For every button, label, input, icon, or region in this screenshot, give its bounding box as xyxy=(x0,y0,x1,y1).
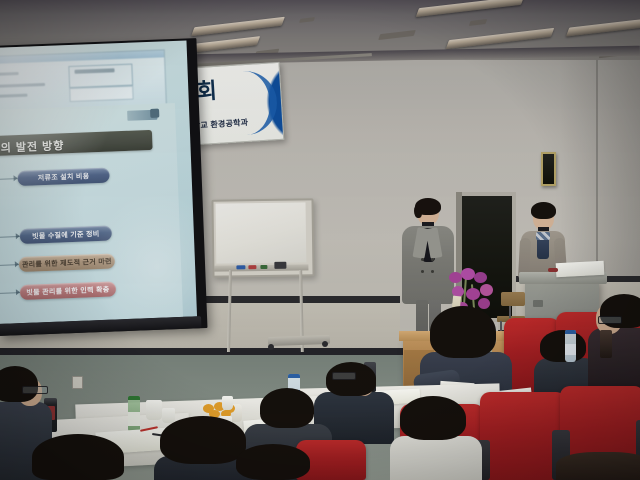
slide-body: 으로의 발전 방향 저류조 설치 비용 빗물 수질에 기준 정비 관리를 위한 … xyxy=(0,103,183,324)
chair-back xyxy=(501,292,525,306)
wall-speaker-icon xyxy=(541,152,556,186)
projection-screen: 으로의 발전 방향 저류조 설치 비용 빗물 수질에 기준 정비 관리를 위한 … xyxy=(0,38,207,336)
slide-logo-mark-icon xyxy=(150,109,159,118)
dialog-text-line xyxy=(0,83,45,88)
orchid-bloom xyxy=(466,288,480,300)
audience-hair xyxy=(160,416,246,464)
orchid-bloom xyxy=(480,284,493,296)
eyeglasses-icon xyxy=(598,316,622,324)
baseboard xyxy=(0,348,420,355)
audience-member xyxy=(32,434,124,480)
bottle-cap xyxy=(565,330,576,334)
audience-hair xyxy=(236,444,310,480)
audience-member xyxy=(556,452,640,480)
eyeglasses-icon xyxy=(22,386,48,394)
slide-bullet-pill: 저류조 설치 비용 xyxy=(17,168,110,187)
eyeglasses-icon xyxy=(332,372,356,380)
audience-hair xyxy=(0,366,38,402)
coat-button xyxy=(421,258,424,261)
coffee-can xyxy=(600,330,612,358)
eraser-icon xyxy=(274,262,286,269)
orchid-bloom xyxy=(461,268,475,280)
chair-leg xyxy=(509,306,511,318)
green-bottle xyxy=(128,396,140,432)
dialog-title-bar xyxy=(0,50,164,64)
lectern-control-panel xyxy=(533,300,543,307)
audience-hair xyxy=(32,434,124,480)
audience-member xyxy=(236,444,310,480)
whiteboard-caster-wheel xyxy=(322,341,328,347)
podium-presenter-hair xyxy=(531,202,556,219)
slide-bullet-pill: 빗물 수질에 기준 정비 xyxy=(20,226,113,245)
blue-marker-icon xyxy=(236,265,245,269)
orchid-bloom xyxy=(474,272,487,283)
audience-hair xyxy=(260,388,314,428)
dialog-text-line xyxy=(0,94,27,98)
audience-hair xyxy=(540,330,586,362)
bottle-label xyxy=(128,412,140,426)
dialog-input-box xyxy=(69,86,133,102)
whiteboard xyxy=(211,198,314,277)
bottle-cap xyxy=(288,374,300,378)
audience-hair xyxy=(430,306,496,358)
wall-outlet xyxy=(72,376,83,389)
lectern-script-papers xyxy=(556,261,605,277)
whiteboard-surface xyxy=(216,202,307,263)
slide-title-bar: 으로의 발전 방향 xyxy=(0,130,153,157)
audience-member xyxy=(160,416,246,480)
presenter-hair-side xyxy=(414,204,422,218)
screen-surface: 으로의 발전 방향 저류조 설치 비용 빗물 수질에 기준 정비 관리를 위한 … xyxy=(0,40,197,323)
paper-cup xyxy=(222,396,233,410)
slide-title: 으로의 발전 방향 xyxy=(0,137,65,156)
podium-presenter-scarf xyxy=(536,232,550,240)
whiteboard-caster-wheel xyxy=(268,344,274,350)
water-bottle xyxy=(565,330,576,362)
bottle-label xyxy=(565,344,576,355)
green-marker-icon xyxy=(260,265,267,269)
slide-bullet-pill: 관리를 위한 제도적 근거 마련 xyxy=(19,253,116,272)
photo-scene: 발표회 표회 대구대학교 환경공학과 으로의 발전 방향 xyxy=(0,0,640,480)
coat-button xyxy=(431,270,434,273)
coat-button xyxy=(421,270,424,273)
dialog-text-line xyxy=(0,72,19,76)
bottle-cap xyxy=(128,396,140,400)
audience-torso xyxy=(588,328,640,390)
audience-torso xyxy=(390,436,482,480)
audience-hair xyxy=(556,452,640,480)
microphone-icon xyxy=(548,268,558,272)
red-marker-icon xyxy=(248,265,256,269)
audience-hair xyxy=(400,396,466,440)
coat-button xyxy=(431,258,434,261)
audience-member xyxy=(394,396,474,480)
dialog-input-box xyxy=(68,64,133,88)
slide-bullet-pill: 빗물 관리를 위한 인력 확충 xyxy=(20,281,117,300)
